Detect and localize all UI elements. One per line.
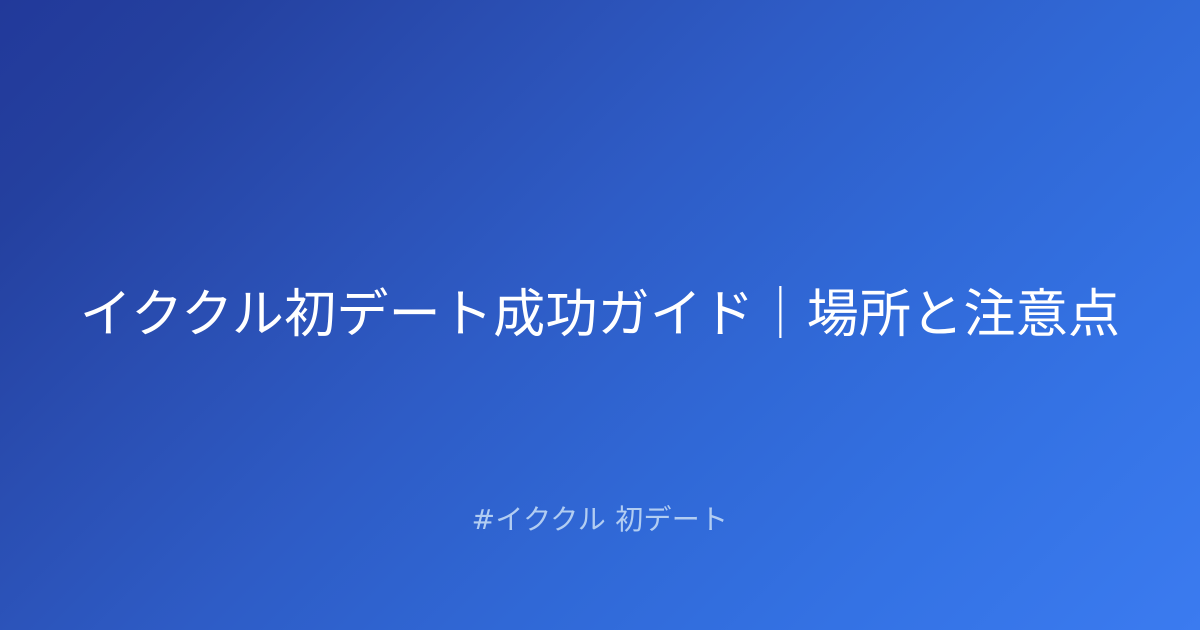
page-title: イククル初デート成功ガイド｜場所と注意点 [20,280,1181,350]
hashtag-label: #イククル 初デート [472,500,729,539]
subtitle-container: #イククル 初デート [0,500,1200,539]
og-card: イククル初デート成功ガイド｜場所と注意点 #イククル 初デート [0,0,1200,630]
